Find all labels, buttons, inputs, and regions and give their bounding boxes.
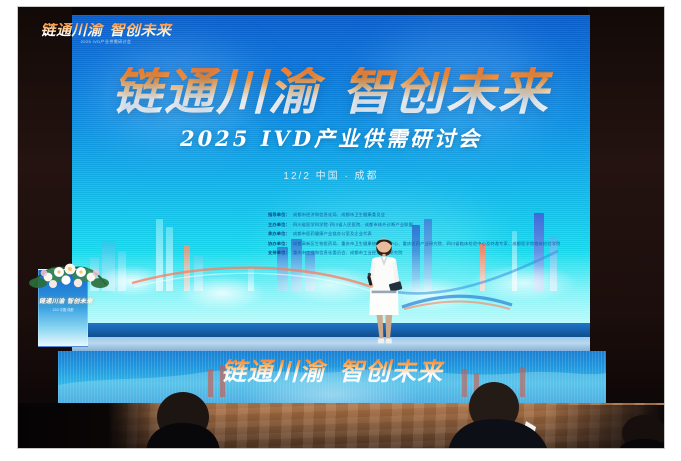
organizer-label: 支持单位： [268,249,290,257]
audience-member [438,381,558,449]
organizer-row: 支持单位： 重庆市工业和信息化委员会、成都市工业经济发展研究院 [268,249,560,257]
event-title-block: 链通川渝智创未来 2025 IVD产业供需研讨会 12/2 中国 · 成都 [72,67,590,182]
event-date-location: 12/2 中国 · 成都 [72,167,590,182]
organizer-row: 主办单位： 四川省医学科学院·四川省人民医院、成都市体外诊断产业联盟 [268,221,560,229]
wall-logo-title-part-1: 链通川渝 [40,21,102,39]
organizer-label: 指导单位： [268,211,290,219]
wall-logo-title: 链通川渝智创未来 [26,23,186,38]
organizer-label: 承办单位： [268,230,290,238]
organizer-text: 成都高新区生物医药局、重庆市卫生健康统计信息中心、重庆医药产业研究院、四川省临床… [293,240,560,248]
wall-logo-title-part-2: 智创未来 [110,21,172,39]
organizer-text: 四川省医学科学院·四川省人民医院、成都市体外诊断产业联盟 [293,221,413,229]
wall-logo-subtitle: 2025 IVD产业供需研讨会 [26,39,186,45]
wall-logo: 链通川渝智创未来 2025 IVD产业供需研讨会 [26,23,186,45]
led-stage-screen: 链通川渝智创未来 2025 IVD产业供需研讨会 12/2 中国 · 成都 指导… [72,15,590,337]
event-title: 链通川渝智创未来 [72,67,590,117]
side-banner-subtitle: 12/2 中国·成都 [39,307,87,312]
organizer-text: 成都市医药健康产业链办公室及企业代表 [293,230,372,238]
stage-apron [72,337,590,351]
organizer-list: 指导单位： 成都市经济和信息化局、成都市卫生健康委员会 主办单位： 四川省医学科… [268,211,560,259]
organizer-label: 协办单位： [268,240,290,248]
conference-photo: 链通川渝智创未来 2025 IVD产业供需研讨会 链通川渝智创未来 2025 I… [17,6,665,449]
front-title-part-2: 智创未来 [339,357,443,386]
audience-member [128,391,238,449]
organizer-row: 指导单位： 成都市经济和信息化局、成都市卫生健康委员会 [268,211,560,219]
event-title-part-1: 链通川渝 [112,62,320,121]
event-subtitle: 2025 IVD产业供需研讨会 [72,123,590,153]
organizer-label: 主办单位： [268,221,290,229]
event-title-part-2: 智创未来 [342,62,550,121]
organizer-row: 协办单位： 成都高新区生物医药局、重庆市卫生健康统计信息中心、重庆医药产业研究院… [268,240,560,248]
organizer-row: 承办单位： 成都市医药健康产业链办公室及企业代表 [268,230,560,238]
flower-arrangement [26,255,112,305]
front-title-part-1: 链通川渝 [221,357,325,386]
organizer-text: 成都市经济和信息化局、成都市卫生健康委员会 [293,211,385,219]
audience-member [610,415,665,449]
screen-bottom-strip [72,323,590,337]
presenter-figure [362,235,406,347]
